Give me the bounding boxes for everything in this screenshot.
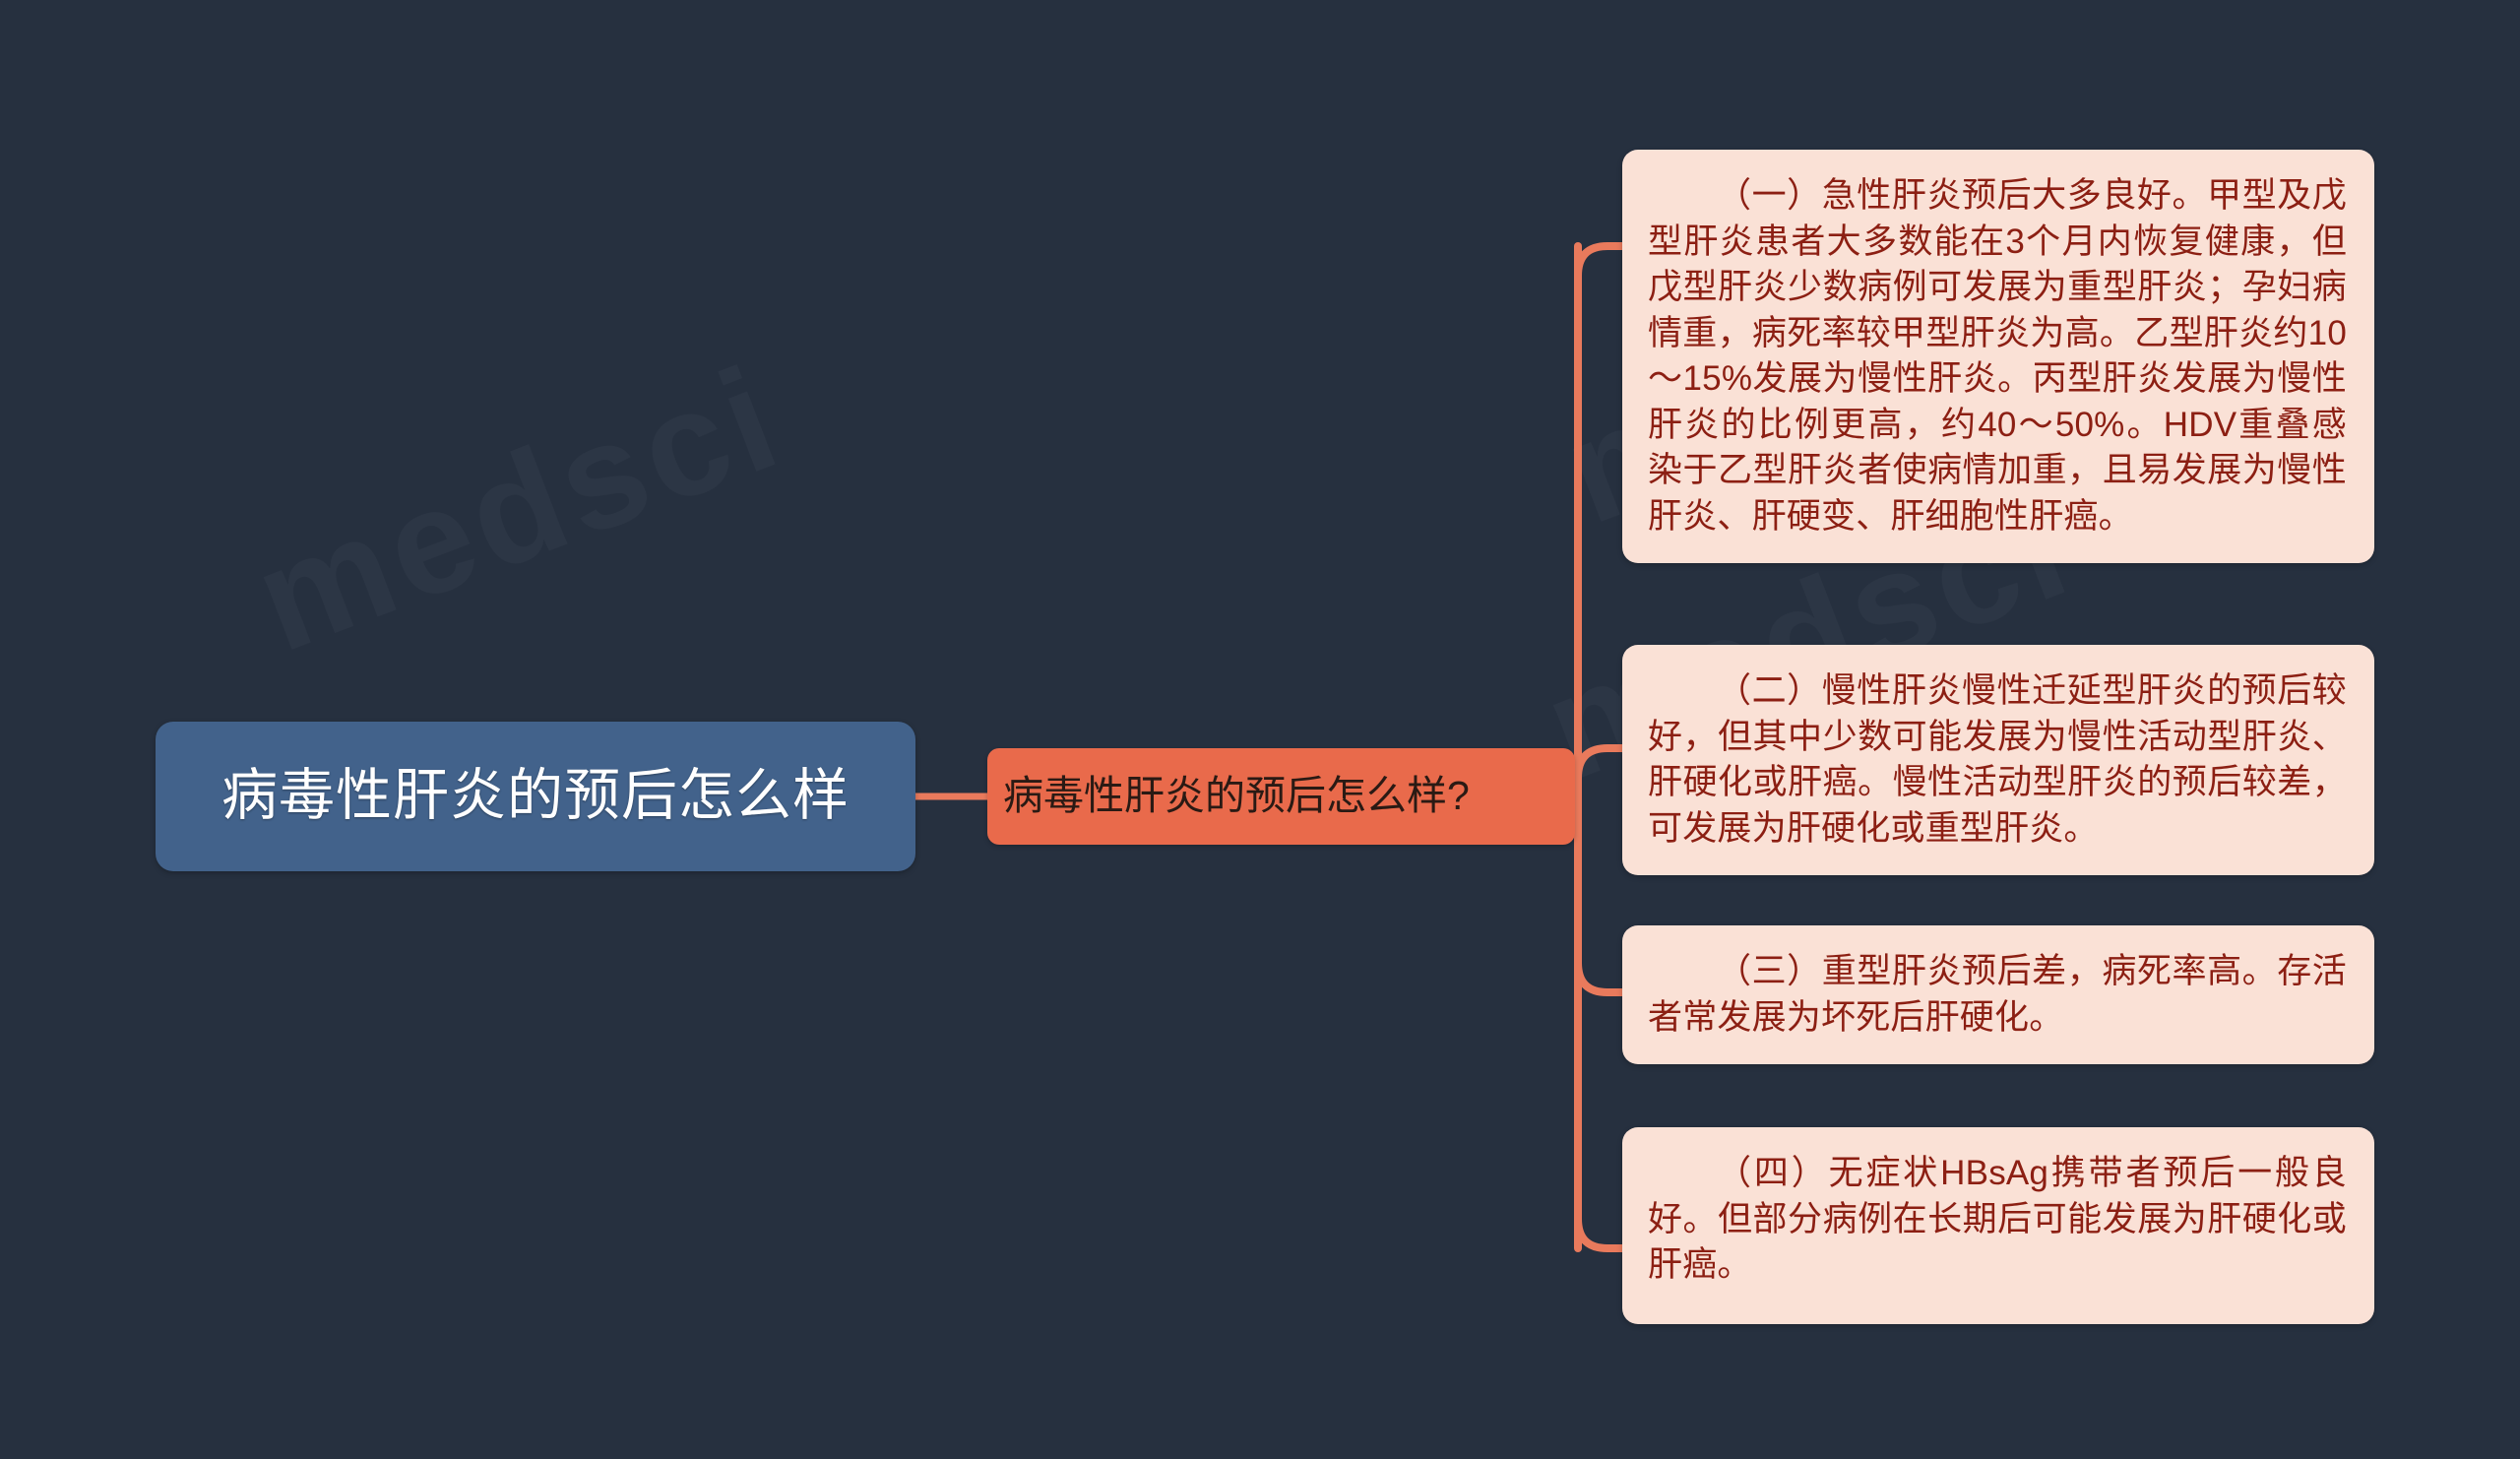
detail-node-3-label: （三）重型肝炎预后差，病死率高。存活者常发展为坏死后肝硬化。 [1648, 949, 2347, 1041]
mindmap-canvas: medsci medsci medsci 病毒性肝炎的预后怎么样 病毒性肝炎的预… [0, 0, 2520, 1459]
detail-node-2[interactable]: （二）慢性肝炎慢性迁延型肝炎的预后较好，但其中少数可能发展为慢性活动型肝炎、肝硬… [1622, 645, 2374, 875]
connector-branch-2 [1578, 748, 1622, 778]
topic-node[interactable]: 病毒性肝炎的预后怎么样? [987, 748, 1575, 845]
connector-branch-4 [1578, 1219, 1622, 1248]
topic-node-label: 病毒性肝炎的预后怎么样? [1003, 774, 1470, 818]
connector-branch-1 [1578, 246, 1622, 276]
root-node[interactable]: 病毒性肝炎的预后怎么样 [156, 722, 915, 871]
detail-node-4[interactable]: （四）无症状HBsAg携带者预后一般良好。但部分病例在长期后可能发展为肝硬化或肝… [1622, 1127, 2374, 1324]
connector-branch-3 [1578, 963, 1622, 992]
detail-node-3[interactable]: （三）重型肝炎预后差，病死率高。存活者常发展为坏死后肝硬化。 [1622, 925, 2374, 1064]
detail-node-1-label: （一）急性肝炎预后大多良好。甲型及戊型肝炎患者大多数能在3个月内恢复健康，但戊型… [1648, 173, 2347, 539]
detail-node-2-label: （二）慢性肝炎慢性迁延型肝炎的预后较好，但其中少数可能发展为慢性活动型肝炎、肝硬… [1648, 668, 2347, 852]
watermark-text: medsci [233, 332, 802, 686]
detail-node-4-label: （四）无症状HBsAg携带者预后一般良好。但部分病例在长期后可能发展为肝硬化或肝… [1648, 1151, 2347, 1289]
root-node-label: 病毒性肝炎的预后怎么样 [221, 767, 850, 826]
detail-node-1[interactable]: （一）急性肝炎预后大多良好。甲型及戊型肝炎患者大多数能在3个月内恢复健康，但戊型… [1622, 150, 2374, 563]
